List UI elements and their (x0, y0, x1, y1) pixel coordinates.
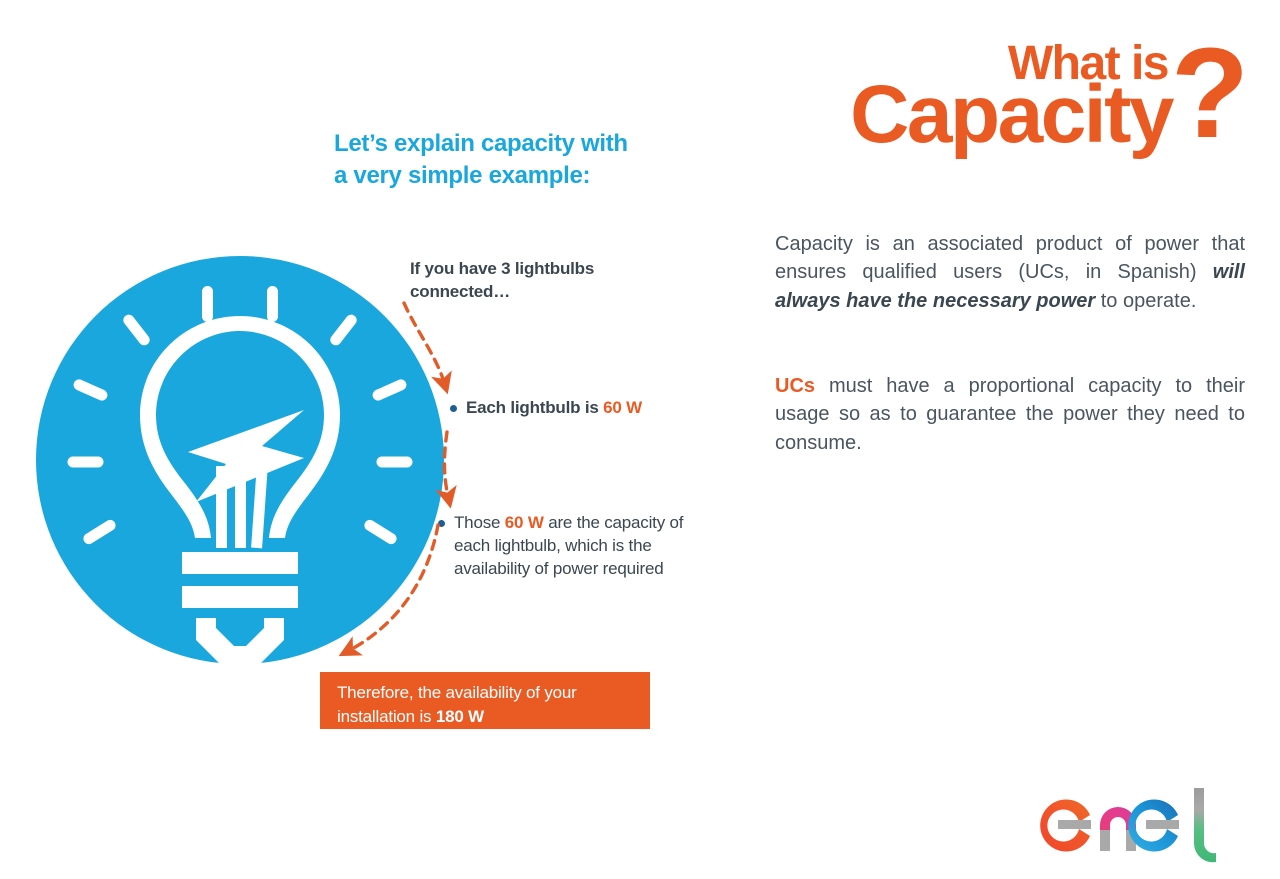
bullet-dot-icon (438, 520, 445, 527)
bullet-2-text: Those 60 W are the capacity of each ligh… (454, 512, 688, 581)
enel-logo (1038, 782, 1246, 864)
bullet-1-text: Each lightbulb is 60 W (466, 397, 642, 420)
bullet-dot-icon (450, 405, 457, 412)
bullet-2-label-before: Those (454, 513, 505, 532)
body-paragraph-1: Capacity is an associated product of pow… (775, 230, 1245, 315)
bullet-1-label: Each lightbulb is (466, 398, 603, 417)
result-value: 180 W (436, 707, 484, 726)
para-1-part-2: to operate. (1095, 290, 1196, 312)
list-item: Those 60 W are the capacity of each ligh… (438, 512, 688, 581)
bullet-2-value: 60 W (505, 513, 544, 532)
result-callout: Therefore, the availability of your inst… (320, 672, 650, 729)
para-2-rest: must have a proportional capacity to the… (775, 375, 1245, 454)
body-paragraph-2: UCs must have a proportional capacity to… (775, 372, 1245, 457)
question-mark-glyph: ? (1171, 30, 1249, 158)
arrow-bullet-1-to-bullet-2 (444, 432, 448, 496)
title-line-2: Capacity (850, 74, 1172, 156)
lead-text: If you have 3 lightbulbs connected… (410, 258, 670, 303)
list-item: Each lightbulb is 60 W (450, 397, 670, 420)
para-1-part-1: Capacity is an associated product of pow… (775, 233, 1245, 283)
example-heading: Let’s explain capacity with a very simpl… (334, 128, 634, 192)
page-title: What is Capacity ? (775, 18, 1245, 188)
para-2-lead: UCs (775, 375, 815, 397)
lightbulb-icon (36, 256, 444, 664)
bullet-1-value: 60 W (603, 398, 642, 417)
